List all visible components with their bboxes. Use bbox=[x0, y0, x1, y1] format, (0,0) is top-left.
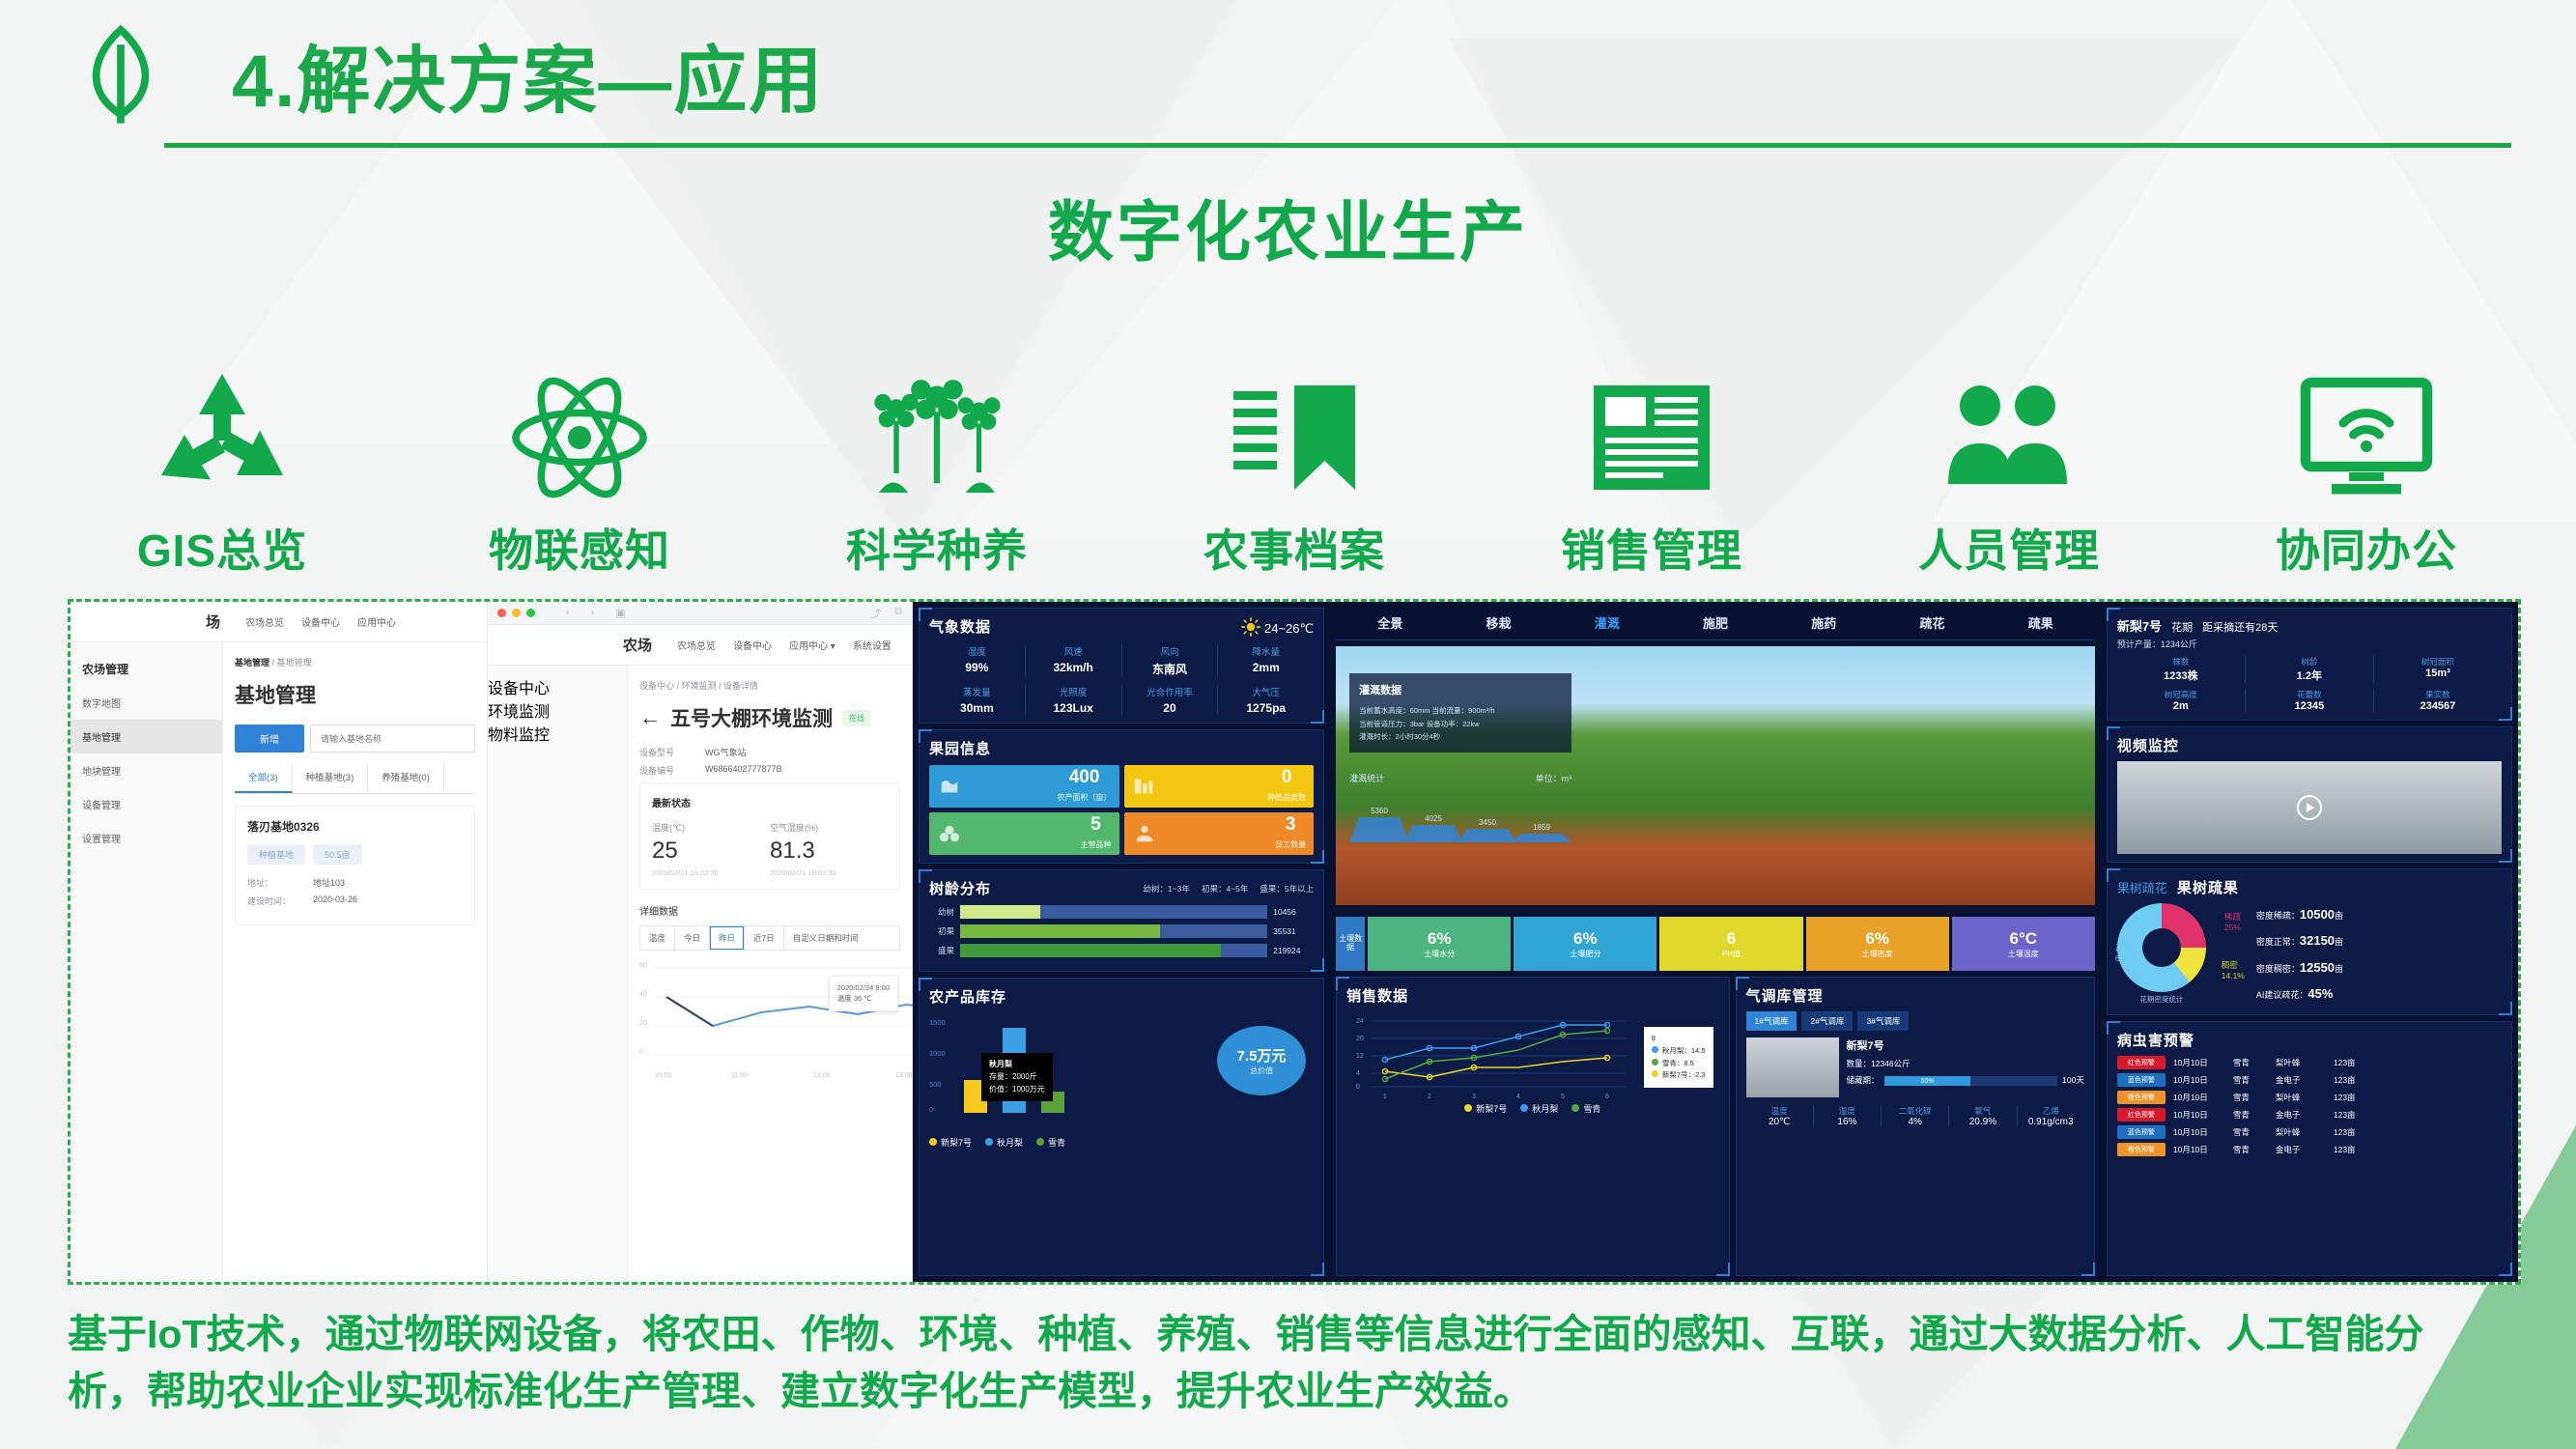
app-a-nav-item[interactable]: 设备中心 bbox=[301, 614, 340, 629]
stat-value: 12345 bbox=[2246, 700, 2373, 712]
app-b-topnav: 农场 农场总览 设备中心 应用中心 ▾ 系统设置 bbox=[488, 625, 912, 666]
stat-key: 树龄 bbox=[2246, 656, 2373, 668]
app-b-nav-item[interactable]: 农场总览 bbox=[677, 638, 716, 652]
cell-crop: 雪青 bbox=[2233, 1057, 2268, 1068]
device-model-value: WG气象站 bbox=[705, 746, 747, 758]
tree-stat: 树冠面积15m³ bbox=[2374, 656, 2502, 683]
cell-area: 123亩 bbox=[2334, 1057, 2356, 1068]
weather-value: 123Lux bbox=[1026, 701, 1121, 715]
tab-planting[interactable]: 种植基地(3) bbox=[293, 762, 369, 793]
tooltip-row: 秋月梨：14.5 bbox=[1652, 1045, 1706, 1058]
weather-item: 风速32km/h bbox=[1026, 644, 1122, 677]
cell-crop: 雪青 bbox=[2233, 1074, 2268, 1086]
user-icon bbox=[1132, 823, 1157, 844]
y-tick: 0 bbox=[639, 1049, 643, 1056]
weather-key: 光照度 bbox=[1026, 685, 1121, 698]
legend-item: 秋月梨 bbox=[985, 1136, 1023, 1149]
card-number: 0 bbox=[1282, 767, 1292, 787]
series-value: 8.5 bbox=[1684, 1059, 1693, 1067]
x-tick: 11:00 bbox=[731, 1072, 748, 1079]
status-badge: 橙色预警 bbox=[2117, 1091, 2166, 1104]
tree-phase: 花期 bbox=[2171, 619, 2193, 635]
tree-stat: 树龄1.2年 bbox=[2246, 656, 2374, 683]
cell-type: 金电子 bbox=[2276, 1109, 2326, 1121]
svg-text:4: 4 bbox=[1516, 1094, 1520, 1100]
legend-label: 秋月梨 bbox=[1532, 1104, 1558, 1114]
base-area-pill: 50.5亩 bbox=[313, 844, 362, 865]
sidebar-item-device-management[interactable]: 设备管理 bbox=[71, 787, 222, 821]
y-tick: 20 bbox=[639, 1020, 647, 1027]
tab-breeding[interactable]: 养殖基地(0) bbox=[368, 762, 444, 793]
weather-key: 蒸发量 bbox=[929, 685, 1025, 698]
stat-key: 乙烯 bbox=[2018, 1105, 2084, 1117]
tree-age-legend-item: 幼树：1~3年 bbox=[1144, 883, 1190, 895]
irrigation-row: 当前管道压力：3bar 设备功率：22kw bbox=[1359, 718, 1562, 731]
tab-transplant[interactable]: 移栽 bbox=[1486, 613, 1511, 632]
app-b-nav-item[interactable]: 设备中心 bbox=[733, 638, 772, 652]
feature-planting[interactable]: 科学种养 bbox=[773, 365, 1101, 580]
minimize-window-dot[interactable] bbox=[512, 609, 521, 617]
series-name: 雪青 bbox=[1662, 1059, 1677, 1067]
stat-label: 空气湿度(%) bbox=[770, 821, 888, 834]
density-stat: 密度正常：32150亩 bbox=[2256, 927, 2502, 953]
stat-time: 2020/02/21 19:02:30 bbox=[770, 868, 888, 877]
search-input[interactable] bbox=[310, 724, 475, 753]
stat-value: 16% bbox=[1814, 1117, 1881, 1127]
stat-key: 株数 bbox=[2117, 656, 2245, 668]
device-sn-label: 设备编号 bbox=[639, 764, 705, 777]
bar-value: 1859 bbox=[1533, 823, 1550, 832]
weather-item: 光合作用率20 bbox=[1122, 685, 1219, 715]
svg-text:3: 3 bbox=[1472, 1094, 1476, 1100]
svg-text:4: 4 bbox=[1356, 1070, 1360, 1077]
grid-icon bbox=[1132, 776, 1155, 797]
weather-row-2: 蒸发量30mm 光照度123Lux 光合作用率20 大气压1275pa bbox=[929, 685, 1314, 715]
total-value-bubble: 7.5万元 总价值 bbox=[1217, 1026, 1306, 1095]
app-b-brand: 农场 bbox=[623, 635, 652, 655]
browser-chrome-bar: ‹ › ▣ ⤴ ⧉ bbox=[488, 602, 912, 625]
cold-storage-tabs: 1#气调库 2#气调库 3#气调库 bbox=[1746, 1011, 2084, 1031]
base-card-title: 落刃基地0326 bbox=[247, 818, 463, 835]
svg-text:0: 0 bbox=[1356, 1084, 1360, 1091]
tab-thin-flower[interactable]: 果树疏花 bbox=[2117, 878, 2167, 896]
app-b-nav-item[interactable]: 应用中心 ▾ bbox=[789, 638, 835, 652]
base-type-pill: 种植基地 bbox=[247, 844, 305, 865]
app-a-topnav: 场 农场总览 设备中心 应用中心 bbox=[71, 602, 487, 642]
card-number: 5 bbox=[1090, 814, 1101, 835]
video-player[interactable] bbox=[2117, 761, 2502, 854]
feature-icon-row: GIS总览 物联感知 bbox=[58, 290, 2531, 580]
atom-icon bbox=[507, 365, 652, 510]
cell-type: 梨叶蜂 bbox=[2276, 1126, 2326, 1138]
feature-office[interactable]: 协同办公 bbox=[2202, 365, 2531, 580]
series-name: 新梨7号 bbox=[1662, 1070, 1688, 1079]
irrigation-stat-unit: 单位：m³ bbox=[1536, 772, 1572, 784]
pest-alert-title: 病虫害预警 bbox=[2117, 1030, 2502, 1050]
bubble-value: 7.5万元 bbox=[1237, 1045, 1287, 1065]
app-b-sidebar: 设备中心 环境监测 物料监控 bbox=[488, 666, 628, 1285]
stat-value: 4% bbox=[1882, 1117, 1948, 1127]
feature-label: 农事档案 bbox=[1130, 516, 1458, 580]
irrigation-stat-title: 灌溉统计 bbox=[1349, 772, 1384, 784]
stat-unit: 亩 bbox=[2335, 911, 2343, 921]
breadcrumb: 设备中心 / 环境监测 / 设备详情 bbox=[639, 679, 900, 692]
sidebar-item-env-monitor[interactable]: 环境监测 bbox=[488, 698, 627, 722]
row-value: 219924 bbox=[1273, 946, 1314, 955]
tree-age-legend-item: 盛果：5年以上 bbox=[1260, 883, 1314, 895]
series-value: 14.5 bbox=[1691, 1046, 1706, 1055]
tab-irrigation[interactable]: 灌溉 bbox=[1595, 613, 1620, 632]
recycle-icon bbox=[150, 365, 295, 510]
feature-sales[interactable]: 销售管理 bbox=[1487, 365, 1816, 580]
app-a-nav-item[interactable]: 农场总览 bbox=[245, 614, 284, 629]
video-title: 视频监控 bbox=[2117, 735, 2502, 755]
status-badge: 蓝色预警 bbox=[2117, 1073, 2166, 1087]
weather-key: 光合作用率 bbox=[1122, 685, 1218, 698]
weather-item: 光照度123Lux bbox=[1026, 685, 1122, 715]
cold-storage-panel: 气调库管理 1#气调库 2#气调库 3#气调库 新梨7号 数量：12346公斤 bbox=[1736, 977, 2095, 1276]
leaf-icon bbox=[68, 21, 174, 128]
range-7days[interactable]: 近7日 bbox=[745, 926, 784, 950]
cell-area: 123亩 bbox=[2334, 1144, 2356, 1155]
weather-row-1: 湿度99% 风速32km/h 风向东南风 降水量2mm bbox=[929, 644, 1314, 677]
tree-age-row: 初果35531 bbox=[929, 924, 1314, 938]
play-icon[interactable] bbox=[2297, 795, 2322, 820]
sidebar-item-base-management[interactable]: 基地管理 bbox=[71, 720, 222, 753]
feature-label: 销售管理 bbox=[1487, 516, 1816, 580]
card-label: 种植品类数 bbox=[1267, 793, 1306, 802]
archive-icon bbox=[1222, 365, 1367, 510]
flowers-icon bbox=[864, 365, 1009, 510]
weather-item: 降水量2mm bbox=[1218, 644, 1314, 677]
sales-title: 销售数据 bbox=[1346, 985, 1718, 1006]
header-divider bbox=[164, 143, 2511, 148]
stat-key: 密度稠密： bbox=[2256, 964, 2300, 974]
stat-key: 果实数 bbox=[2374, 689, 2502, 700]
range-custom[interactable]: 自定义日期和时间 bbox=[784, 926, 867, 950]
share-icon[interactable]: ⤴ bbox=[870, 606, 881, 621]
svg-text:24: 24 bbox=[1356, 1018, 1364, 1025]
stat-value: 25 bbox=[652, 838, 770, 865]
tab-fertilize[interactable]: 施肥 bbox=[1703, 613, 1728, 632]
status-badge: 蓝色预警 bbox=[2117, 1125, 2166, 1139]
tooltip-row: 雪青：8.5 bbox=[1652, 1058, 1706, 1070]
temperature-line-chart: 60 40 20 0 2020/02/24 9:00 温度 36 ℃ bbox=[639, 958, 900, 1079]
legend-label: 雪青 bbox=[1583, 1104, 1600, 1114]
weather-value: 2mm bbox=[1218, 661, 1314, 674]
legend-item: 秋月梨 bbox=[1520, 1102, 1558, 1115]
bubble-label: 总价值 bbox=[1250, 1065, 1273, 1076]
orchard-3d-map[interactable]: 灌溉数据 当前蓄水高度：60mm 当前流量：900m³/h 当前管道压力：3ba… bbox=[1336, 646, 2095, 905]
cold-stat: 氧气20.9% bbox=[1949, 1105, 2017, 1127]
cell-date: 10月10日 bbox=[2173, 1074, 2225, 1086]
status-badge: 在线 bbox=[842, 710, 871, 726]
app-a-nav-item[interactable]: 应用中心 bbox=[357, 614, 396, 629]
orchard-card-categories[interactable]: 0种植品类数 bbox=[1124, 765, 1315, 808]
soil-value: 6°C bbox=[2010, 929, 2038, 949]
status-badge: 红色预警 bbox=[2117, 1108, 2166, 1122]
stat-key: 二氧化碳 bbox=[1882, 1105, 1948, 1117]
feature-gis[interactable]: GIS总览 bbox=[58, 365, 386, 580]
svg-text:20: 20 bbox=[1356, 1036, 1364, 1042]
metric-select[interactable]: 温度 bbox=[640, 926, 675, 950]
weather-key: 湿度 bbox=[929, 644, 1025, 658]
tooltip-time: 2020/02/24 9:00 bbox=[837, 982, 890, 993]
sidebar-item-digital-map[interactable]: 数字地图 bbox=[71, 686, 222, 720]
y-tick: 500 bbox=[929, 1080, 942, 1089]
cell-type: 金电子 bbox=[2276, 1144, 2326, 1155]
cell-area: 123亩 bbox=[2334, 1126, 2356, 1138]
stat-value: 0.91g/cm3 bbox=[2018, 1117, 2084, 1127]
feature-iot[interactable]: 物联感知 bbox=[415, 365, 744, 580]
tab-thin-fruit[interactable]: 疏果 bbox=[2028, 613, 2053, 632]
tab-store-2[interactable]: 2#气调库 bbox=[1801, 1011, 1853, 1031]
bar-value: 5360 bbox=[1371, 807, 1388, 815]
orchard-panel: 果园信息 400农产面积（亩） 0种植品类数 5主营品种 bbox=[919, 729, 1324, 864]
feature-label: 协同办公 bbox=[2202, 516, 2531, 580]
pest-alert-panel: 病虫害预警 红色预警10月10日雪青梨叶蜂123亩 蓝色预警10月10日雪青金电… bbox=[2107, 1021, 2512, 1276]
y-tick: 1500 bbox=[929, 1018, 946, 1027]
soil-label: 土壤肥分 bbox=[1570, 949, 1600, 959]
tab-panorama[interactable]: 全景 bbox=[1377, 613, 1402, 632]
tab-all[interactable]: 全部(3) bbox=[235, 762, 293, 793]
back-nav-icon[interactable]: ‹ bbox=[566, 607, 570, 619]
base-card[interactable]: 落刃基地0326 种植基地 50.5亩 地址：地址103 建设时间：2020-0… bbox=[235, 806, 475, 925]
tree-stat: 株数1233株 bbox=[2117, 656, 2246, 683]
svg-text:1: 1 bbox=[1383, 1094, 1387, 1100]
stat-value: 234567 bbox=[2374, 700, 2502, 712]
stat-humidity: 空气湿度(%) 81.3 2020/02/21 19:02:30 bbox=[770, 821, 888, 877]
legend-item: 新梨7号 bbox=[929, 1136, 972, 1149]
inventory-title: 农产品库存 bbox=[929, 986, 1314, 1007]
cell-date: 10月10日 bbox=[2173, 1109, 2225, 1121]
stat-value: 2m bbox=[2117, 700, 2245, 712]
breadcrumb-root[interactable]: 基地管理 bbox=[235, 658, 269, 668]
weather-item: 湿度99% bbox=[929, 644, 1026, 677]
footer-description: 基于IoT技术，通过物联网设备，将农田、作物、环境、种植、养殖、销售等信息进行全… bbox=[68, 1306, 2502, 1421]
tooltip-series: 温度 36 ℃ bbox=[837, 993, 890, 1004]
tabs-icon[interactable]: ⧉ bbox=[894, 606, 902, 621]
weather-key: 大气压 bbox=[1218, 685, 1314, 698]
slide-header: 4.解决方案—应用 bbox=[0, 0, 2576, 155]
latest-status-title: 最新状态 bbox=[652, 795, 888, 810]
x-tick: 13:00 bbox=[895, 1072, 913, 1079]
row-name: 幼树 bbox=[929, 906, 954, 918]
soil-label: 土壤水分 bbox=[1424, 949, 1455, 959]
soil-moisture: 6%土壤水分 bbox=[1368, 917, 1511, 971]
close-window-dot[interactable] bbox=[497, 609, 506, 617]
cell-area: 123亩 bbox=[2334, 1092, 2356, 1103]
dashboard-left-column: 气象数据 24~26℃ bbox=[913, 602, 1330, 1282]
tooltip-row: 新梨7号：2.3 bbox=[1652, 1069, 1706, 1082]
wifi-monitor-icon bbox=[2294, 365, 2439, 510]
tab-store-3[interactable]: 3#气调库 bbox=[1857, 1011, 1909, 1031]
card-label: 主营品种 bbox=[1081, 840, 1112, 849]
thinning-title: 果树疏果 bbox=[2177, 877, 2239, 897]
stat-value: 1.2年 bbox=[2246, 668, 2373, 683]
page-title: 4.解决方案—应用 bbox=[232, 21, 824, 128]
stat-value: 32150 bbox=[2300, 933, 2335, 948]
app-b-main: 设备中心 / 环境监测 / 设备详情 ← 五号大棚环境监测 在线 设备型号WG气… bbox=[628, 666, 912, 1285]
sidebar-item-plot-management[interactable]: 地块管理 bbox=[71, 753, 222, 787]
legend-item: 雪青 bbox=[1036, 1136, 1065, 1149]
table-row: 蓝色预警10月10日雪青梨叶蜂123亩 bbox=[2117, 1125, 2502, 1139]
orchard-card-area[interactable]: 400农产面积（亩） bbox=[929, 765, 1119, 808]
qty-value: 12346公斤 bbox=[1871, 1059, 1911, 1068]
sun-icon bbox=[1241, 617, 1260, 637]
irrigation-bar-chart: 5360 4025 3450 1859 bbox=[1349, 788, 1571, 856]
range-today[interactable]: 今日 bbox=[675, 926, 710, 950]
row-name: 盛果 bbox=[929, 945, 954, 956]
card-number: 3 bbox=[1286, 814, 1296, 835]
card-label: 员工数量 bbox=[1275, 840, 1306, 849]
sidebar-toggle-icon[interactable]: ▣ bbox=[615, 607, 625, 619]
qty-label: 数量： bbox=[1847, 1059, 1872, 1068]
weather-value: 99% bbox=[929, 661, 1025, 674]
inventory-tooltip: 秋月梨 存量：2000斤 价值：1000万元 bbox=[981, 1053, 1053, 1101]
water-icon bbox=[937, 776, 962, 797]
weather-key: 风速 bbox=[1026, 644, 1121, 658]
range-yesterday[interactable]: 昨日 bbox=[710, 926, 745, 950]
stat-value: 20℃ bbox=[1746, 1117, 1813, 1127]
svg-text:6: 6 bbox=[1605, 1094, 1609, 1100]
tree-age-title: 树龄分布 bbox=[929, 878, 991, 898]
soil-temperature: 6°C土壤温度 bbox=[1952, 917, 2095, 971]
weather-key: 降水量 bbox=[1218, 644, 1314, 658]
stat-key: 氧气 bbox=[1949, 1105, 2016, 1117]
bar-value: 4025 bbox=[1425, 814, 1442, 823]
base-address-label: 地址： bbox=[247, 876, 313, 889]
irrigation-title: 灌溉数据 bbox=[1359, 682, 1562, 697]
device-sn-value: W6866402777877B bbox=[705, 764, 782, 777]
weather-value: 东南风 bbox=[1122, 661, 1218, 677]
soil-ph: 6PH值 bbox=[1659, 917, 1802, 971]
app-a-page-title: 基地管理 bbox=[235, 680, 475, 709]
app-b-page-title: 五号大棚环境监测 bbox=[670, 703, 833, 732]
tree-age-legend-item: 初果：4~5年 bbox=[1202, 883, 1248, 895]
bar-value: 3450 bbox=[1479, 818, 1496, 827]
slice-label-dense: 稠密14.1% bbox=[2222, 959, 2245, 980]
base-date-label: 建设时间： bbox=[247, 895, 313, 907]
y-tick: 0 bbox=[929, 1105, 933, 1114]
sales-line-chart: 2420 1240 bbox=[1346, 1011, 1718, 1100]
cold-stat: 乙烯0.91g/cm3 bbox=[2018, 1105, 2084, 1127]
stat-key: 花蕾数 bbox=[2246, 689, 2373, 700]
cell-date: 10月10日 bbox=[2173, 1126, 2225, 1138]
maximize-window-dot[interactable] bbox=[526, 609, 535, 617]
video-panel: 视频监控 bbox=[2107, 726, 2512, 863]
app-b-nav-item[interactable]: 系统设置 bbox=[853, 638, 892, 652]
table-row: 红色预警10月10日雪青梨叶蜂123亩 bbox=[2117, 1056, 2502, 1069]
add-button[interactable]: 新增 bbox=[235, 724, 304, 753]
soil-value: 6% bbox=[1865, 929, 1889, 949]
cell-area: 123亩 bbox=[2334, 1109, 2356, 1121]
card-label: 农产面积（亩） bbox=[1058, 793, 1112, 802]
density-stat: AI建议疏花：45% bbox=[2256, 980, 2502, 1007]
cell-type: 梨叶蜂 bbox=[2276, 1057, 2326, 1068]
chart-tooltip: 2020/02/24 9:00 温度 36 ℃ bbox=[829, 976, 898, 1011]
stat-time: 2020/02/21 19:02:30 bbox=[652, 868, 770, 877]
soil-value: 6% bbox=[1428, 929, 1452, 949]
orchard-card-varieties[interactable]: 5主营品种 bbox=[929, 812, 1119, 855]
soil-value: 6% bbox=[1573, 929, 1598, 949]
section-subtitle: 数字化农业生产 bbox=[0, 179, 2576, 274]
orchard-card-staff[interactable]: 3员工数量 bbox=[1124, 812, 1315, 855]
soil-label: 土壤温度 bbox=[2008, 949, 2039, 959]
stat-unit: 亩 bbox=[2335, 937, 2343, 947]
tree-stat: 树冠高度2m bbox=[2117, 689, 2246, 712]
legend-label: 秋月梨 bbox=[997, 1138, 1023, 1148]
dark-dashboard: 气象数据 24~26℃ bbox=[913, 602, 2518, 1282]
row-value: 10456 bbox=[1273, 907, 1314, 917]
legend-label: 新梨7号 bbox=[1476, 1104, 1507, 1114]
sales-legend: 新梨7号 秋月梨 雪青 bbox=[1346, 1102, 1718, 1115]
tree-stats-row-2: 树冠高度2m 花蕾数12345 果实数234567 bbox=[2117, 689, 2502, 712]
series-value: 2.3 bbox=[1695, 1070, 1705, 1079]
stat-key: 树冠高度 bbox=[2117, 689, 2245, 700]
base-date-value: 2020-03-26 bbox=[313, 895, 357, 907]
cell-crop: 雪青 bbox=[2233, 1144, 2268, 1155]
stat-value: 15m³ bbox=[2374, 668, 2502, 679]
app-a-main: 基地管理 / 基地管理 基地管理 新增 全部(3) 种植基地(3) 养殖基地(0… bbox=[223, 642, 487, 1282]
tab-pesticide[interactable]: 施药 bbox=[1811, 613, 1836, 632]
app-a-sidebar: 农场管理 数字地图 基地管理 地块管理 设备管理 设置管理 bbox=[71, 642, 223, 1282]
irrigation-stats: 灌溉统计 单位：m³ 5360 bbox=[1349, 772, 1571, 861]
orchard-title: 果园信息 bbox=[929, 738, 1314, 758]
tree-name: 新梨7号 bbox=[2117, 616, 2162, 635]
app-device-monitor: ‹ › ▣ ⤴ ⧉ 农场 农场总览 设备中心 应用中心 ▾ 系统设置 bbox=[488, 602, 913, 1282]
progress-fill: 50% bbox=[1884, 1076, 1971, 1086]
detail-title: 详细数据 bbox=[639, 903, 900, 918]
weather-title: 气象数据 bbox=[929, 616, 991, 637]
inventory-panel: 农产品库存 1500 1000 500 0 秋月梨 存量：2000斤 价值：10… bbox=[919, 978, 1324, 1276]
forward-nav-icon[interactable]: › bbox=[591, 607, 595, 619]
soil-label: 土壤密度 bbox=[1862, 949, 1893, 959]
sidebar-item-material-monitor[interactable]: 物料监控 bbox=[488, 722, 627, 745]
back-arrow-icon[interactable]: ← bbox=[639, 705, 661, 730]
x-tick: 10:00 bbox=[655, 1072, 672, 1079]
stat-key: 温度 bbox=[1746, 1105, 1813, 1117]
status-badge: 红色预警 bbox=[2117, 1056, 2166, 1069]
yield-value: 1234公斤 bbox=[2161, 639, 2197, 649]
tab-thin-flower[interactable]: 疏花 bbox=[1919, 613, 1944, 632]
soil-density: 6%土壤密度 bbox=[1806, 917, 1949, 971]
stat-temperature: 温度(℃) 25 2020/02/21 19:02:30 bbox=[652, 821, 770, 877]
stat-value: 12550 bbox=[2300, 960, 2335, 975]
stat-value: 10500 bbox=[2300, 907, 2335, 922]
feature-staff[interactable]: 人员管理 bbox=[1845, 365, 2173, 580]
stat-unit: 亩 bbox=[2335, 964, 2343, 974]
tooltip-title: 秋月梨 bbox=[989, 1059, 1045, 1071]
newspaper-icon bbox=[1579, 365, 1724, 510]
stat-value: 1233株 bbox=[2117, 668, 2245, 683]
tab-store-1[interactable]: 1#气调库 bbox=[1746, 1011, 1798, 1031]
legend-item: 新梨7号 bbox=[1464, 1102, 1507, 1115]
legend-label: 雪青 bbox=[1048, 1138, 1065, 1148]
activity-tabs: 全景 移栽 灌溉 施肥 施药 疏花 疏果 bbox=[1336, 608, 2095, 640]
sidebar-item-settings[interactable]: 设置管理 bbox=[71, 821, 222, 855]
cell-crop: 雪青 bbox=[2233, 1092, 2268, 1103]
cold-stat: 二氧化碳4% bbox=[1882, 1105, 1949, 1127]
feature-archive[interactable]: 农事档案 bbox=[1130, 365, 1458, 580]
legend-label: 新梨7号 bbox=[941, 1138, 972, 1148]
stat-key: 树冠面积 bbox=[2374, 656, 2502, 668]
table-row: 橙色预警10月10日雪青金电子123亩 bbox=[2117, 1143, 2502, 1156]
store-label: 储藏期： bbox=[1847, 1074, 1880, 1086]
inventory-legend: 新梨7号 秋月梨 雪青 bbox=[929, 1136, 1314, 1149]
stat-key: 密度正常： bbox=[2256, 937, 2300, 947]
cold-storage-photo bbox=[1746, 1037, 1839, 1097]
